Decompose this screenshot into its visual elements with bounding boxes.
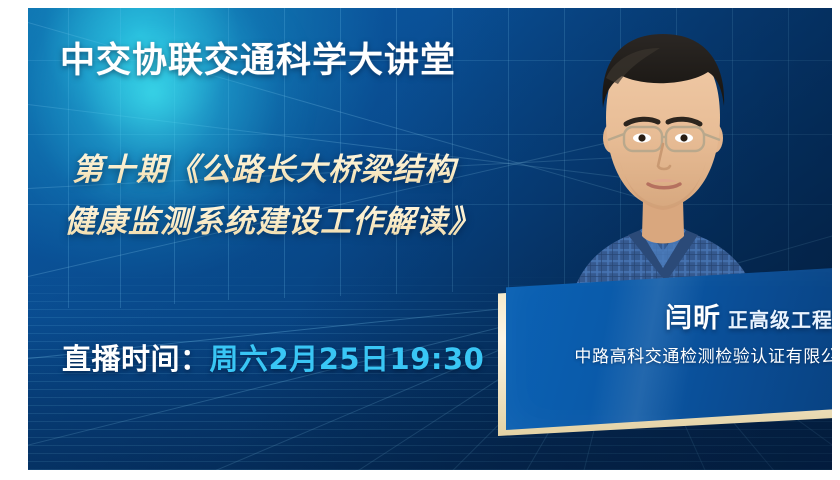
live-time-label: 直播时间： — [62, 342, 210, 376]
live-time-value: 周六2月25日19:30 — [210, 342, 485, 376]
speaker-title: 正高级工程师 — [728, 308, 832, 332]
subtitle-line-2: 健康监测系统建设工作解读》 — [64, 196, 480, 248]
speaker-card: 闫昕正高级工程师 中路高科交通检测检验认证有限公司 — [498, 266, 832, 444]
episode-subtitle: 第十期《公路长大桥梁结构 健康监测系统建设工作解读》 — [72, 144, 480, 248]
livestream-poster: 中交协联交通科学大讲堂 第十期《公路长大桥梁结构 健康监测系统建设工作解读》 直… — [0, 0, 840, 480]
speaker-organization: 中路高科交通检测检验认证有限公司 — [498, 342, 832, 367]
poster-artboard: 中交协联交通科学大讲堂 第十期《公路长大桥梁结构 健康监测系统建设工作解读》 直… — [28, 8, 832, 470]
speaker-name: 闫昕 — [665, 303, 721, 334]
subtitle-line-1: 第十期《公路长大桥梁结构 — [72, 144, 480, 196]
page-title: 中交协联交通科学大讲堂 — [60, 32, 456, 83]
live-time: 直播时间：周六2月25日19:30 — [62, 336, 484, 378]
speaker-name-row: 闫昕正高级工程师 — [498, 296, 832, 335]
